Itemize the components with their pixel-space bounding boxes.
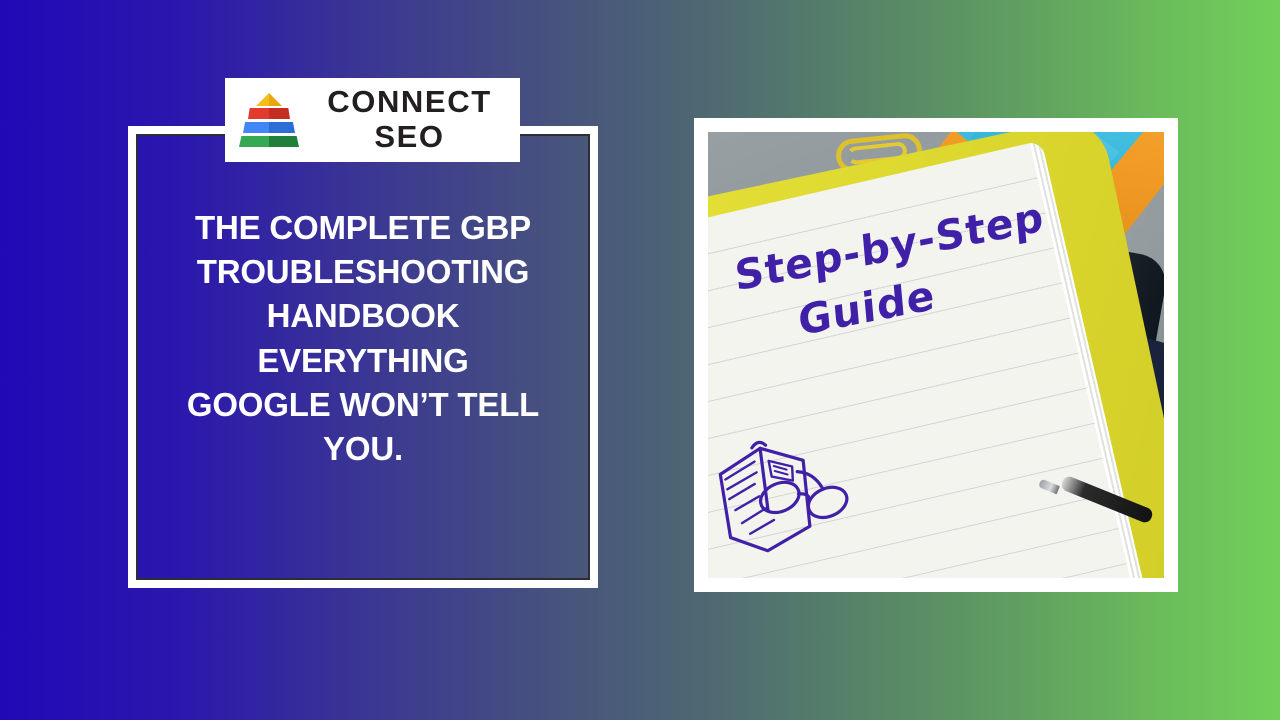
photo-image: Step-by-Step Guide bbox=[708, 132, 1164, 578]
brand-wordmark-line1: CONNECT bbox=[327, 84, 491, 119]
slide-canvas: THE COMPLETE GBP TROUBLESHOOTING HANDBOO… bbox=[0, 0, 1280, 720]
pyramid-tier-red bbox=[248, 108, 290, 119]
pyramid-tier-blue bbox=[243, 122, 295, 133]
brand-logo-badge[interactable]: CONNECT SEO bbox=[225, 78, 520, 162]
photo-frame: Step-by-Step Guide bbox=[694, 118, 1178, 592]
brand-wordmark: CONNECT SEO bbox=[299, 85, 520, 154]
pyramid-tier-yellow bbox=[256, 93, 282, 106]
brand-wordmark-line2: SEO bbox=[299, 120, 520, 155]
pyramid-tier-green bbox=[239, 136, 299, 147]
pyramid-icon bbox=[239, 89, 299, 151]
page-title: THE COMPLETE GBP TROUBLESHOOTING HANDBOO… bbox=[128, 206, 598, 471]
